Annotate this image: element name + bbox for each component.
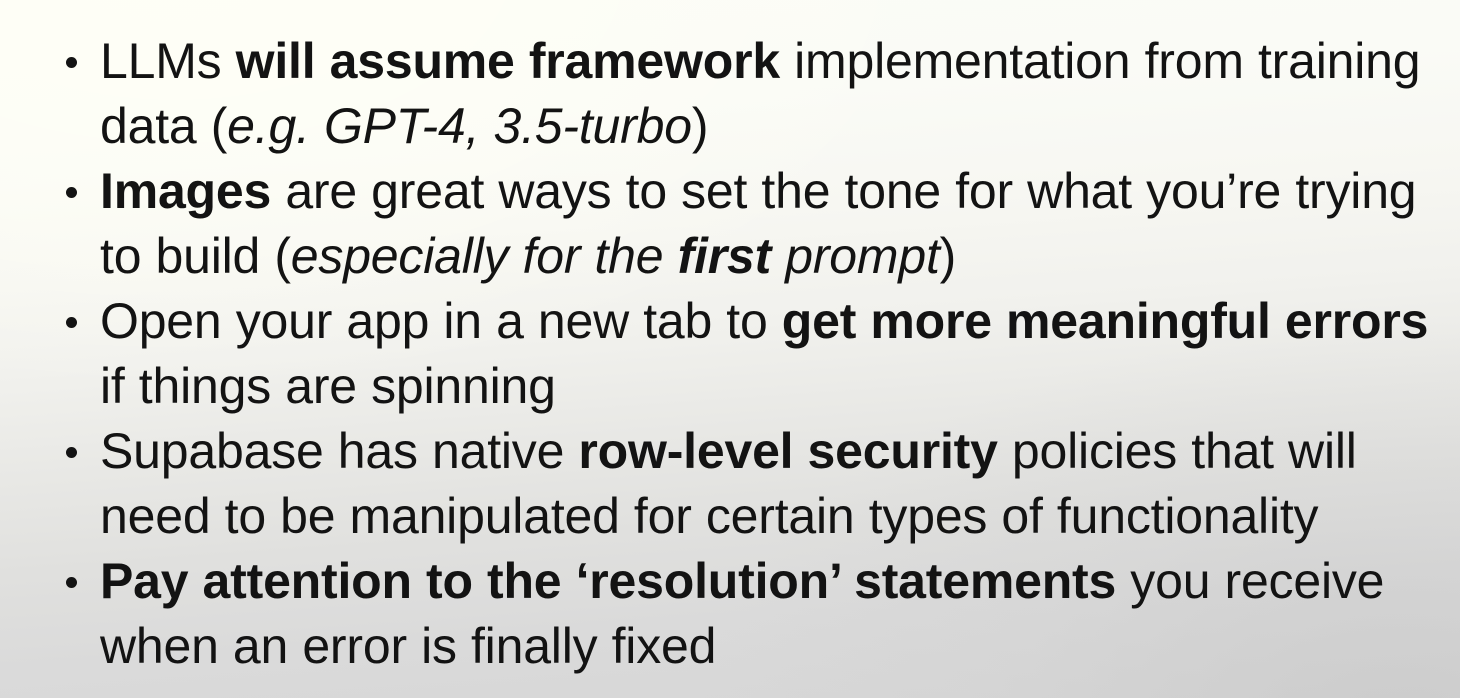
bullet-text: Images are great ways to set the tone fo… <box>100 163 1416 284</box>
bullet-text: Open your app in a new tab to get more m… <box>100 293 1428 414</box>
bullet-item-open-app-new-tab: Open your app in a new tab to get more m… <box>66 289 1460 419</box>
bullet-list: LLMs will assume framework implementatio… <box>0 0 1460 679</box>
slide-canvas: LLMs will assume framework implementatio… <box>0 0 1460 698</box>
text-segment: ) <box>940 228 956 284</box>
bullet-text: Supabase has native row-level security p… <box>100 423 1357 544</box>
bullet-dot-icon <box>66 577 77 588</box>
text-segment: Images <box>100 163 271 219</box>
text-segment: Open your app in a new tab to <box>100 293 782 349</box>
bullet-item-images-set-the-tone: Images are great ways to set the tone fo… <box>66 159 1460 289</box>
text-segment: especially for the <box>291 228 678 284</box>
bullet-item-supabase-row-level-security: Supabase has native row-level security p… <box>66 419 1460 549</box>
bullet-dot-icon <box>66 447 77 458</box>
text-segment: Supabase has native <box>100 423 578 479</box>
bullet-dot-icon <box>66 317 77 328</box>
bullet-item-llms-assume-framework: LLMs will assume framework implementatio… <box>66 29 1460 159</box>
text-segment: if things are spinning <box>100 358 556 414</box>
text-segment: will assume framework <box>236 33 780 89</box>
text-segment: ) <box>692 98 708 154</box>
bullet-dot-icon <box>66 57 77 68</box>
text-segment: prompt <box>771 228 940 284</box>
text-segment: e.g. GPT-4, 3.5-turbo <box>227 98 692 154</box>
bullet-text: LLMs will assume framework implementatio… <box>100 33 1420 154</box>
bullet-text: Pay attention to the ‘resolution’ statem… <box>100 553 1384 674</box>
text-segment: row-level security <box>578 423 997 479</box>
text-segment: first <box>678 228 771 284</box>
bullet-dot-icon <box>66 187 77 198</box>
bullet-item-pay-attention-resolution: Pay attention to the ‘resolution’ statem… <box>66 549 1460 679</box>
text-segment: Pay attention to the ‘resolution’ statem… <box>100 553 1116 609</box>
text-segment: get more meaningful errors <box>782 293 1428 349</box>
text-segment: LLMs <box>100 33 236 89</box>
